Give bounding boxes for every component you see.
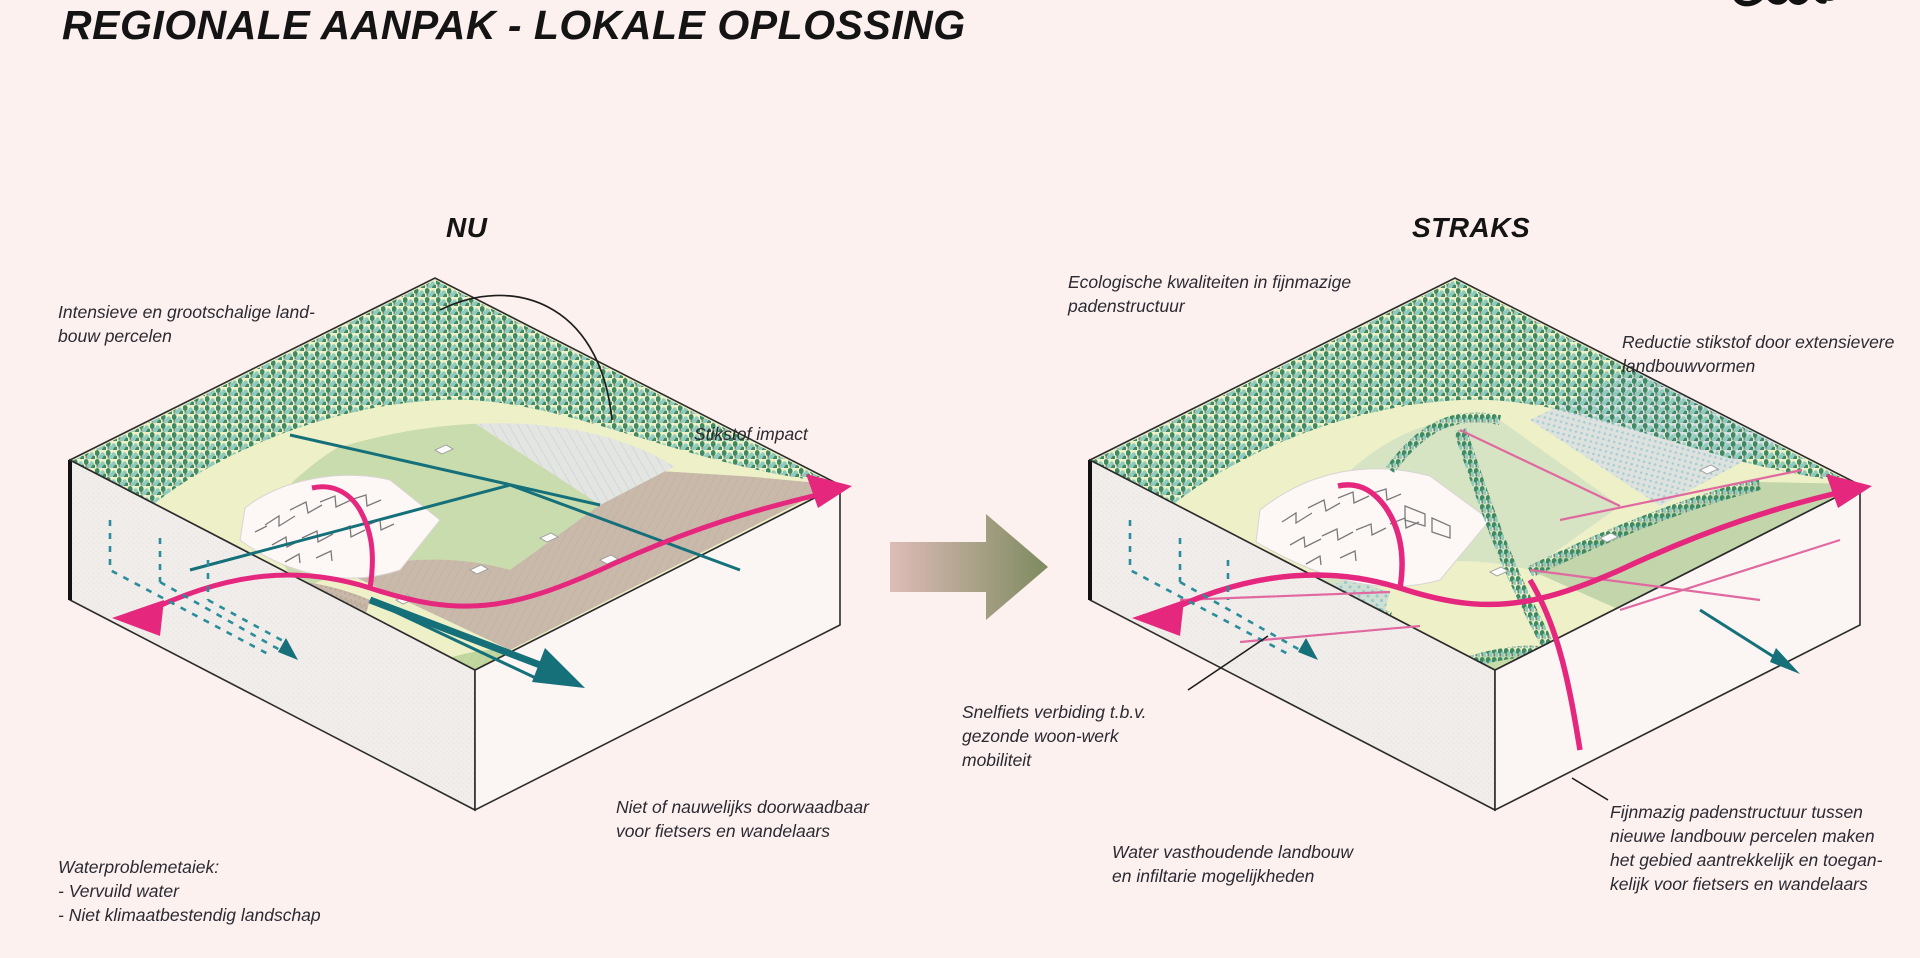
annotation-snelfiets: Snelfiets verbiding t.b.v. gezonde woon-…: [962, 700, 1212, 772]
annotation-fijnmazig: Fijnmazig padenstructuur tussen nieuwe l…: [1610, 800, 1920, 897]
cursive-studio-logo: [1724, 0, 1894, 32]
annotation-reductie: Reductie stikstof door extensievere land…: [1622, 330, 1920, 378]
annotation-intensieve: Intensieve en grootschalige land- bouw p…: [58, 300, 388, 348]
panel-heading-straks: STRAKS: [1412, 212, 1530, 244]
slide: REGIONALE AANPAK - LOKALE OPLOSSING NU S…: [0, 0, 1920, 958]
isometric-block-nu: [40, 270, 870, 830]
page-title: REGIONALE AANPAK - LOKALE OPLOSSING: [62, 2, 966, 49]
annotation-water-vasthoudend: Water vasthoudende landbouw en infiltari…: [1112, 840, 1412, 888]
panel-heading-nu: NU: [446, 212, 487, 244]
annotation-niet-doorwaadbaar: Niet of nauwelijks doorwaadbaar voor fie…: [616, 795, 946, 843]
transition-arrow-icon: [890, 512, 1050, 622]
annotation-stikstof: Stikstof impact: [694, 422, 954, 446]
annotation-waterproblematiek: Waterproblemetaiek: - Vervuild water - N…: [58, 855, 458, 927]
annotation-ecologische: Ecologische kwaliteiten in fijnmazige pa…: [1068, 270, 1408, 318]
